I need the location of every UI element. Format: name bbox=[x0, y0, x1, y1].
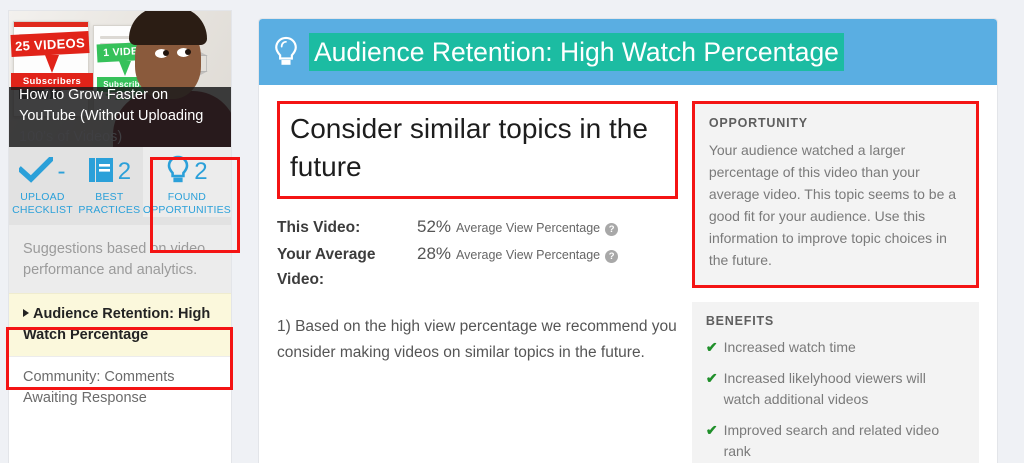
book-icon bbox=[88, 156, 114, 189]
metric-label-your-average-video: Your Average Video: bbox=[277, 242, 417, 292]
sidebar-item-community-comments-label: Community: Comments Awaiting Response bbox=[23, 369, 174, 406]
benefits-panel: BENEFITS ✔ Increased watch time ✔ Increa… bbox=[692, 302, 979, 463]
metric-value-your-average-video: 28% bbox=[417, 244, 451, 264]
video-sidebar: 25 VIDEOS 1 VIDEO Subscribers Subscriber… bbox=[8, 10, 232, 463]
metric-row: Your Average Video: 28% Average View Per… bbox=[277, 242, 678, 292]
benefit-item: ✔ Increased watch time bbox=[706, 337, 965, 358]
headline-container: Consider similar topics in the future bbox=[277, 101, 678, 199]
suggestion-header: Audience Retention: High Watch Percentag… bbox=[259, 19, 997, 85]
video-stats-row: - UPLOAD CHECKLIST bbox=[9, 147, 231, 225]
suggestion-body: Consider similar topics in the future Th… bbox=[259, 85, 997, 463]
metrics-table: This Video: 52% Average View Percentage … bbox=[277, 215, 678, 292]
stat-upload-checklist-label-1: UPLOAD bbox=[12, 191, 73, 204]
stat-found-opportunities-label-2: OPPORTUNITIES bbox=[143, 204, 231, 217]
app-root: 25 VIDEOS 1 VIDEO Subscribers Subscriber… bbox=[0, 0, 1024, 463]
sidebar-item-audience-retention[interactable]: Audience Retention: High Watch Percentag… bbox=[9, 293, 231, 356]
caret-right-icon bbox=[23, 309, 29, 317]
stat-upload-checklist-value: - bbox=[57, 160, 65, 184]
help-icon[interactable]: ? bbox=[605, 223, 618, 236]
stat-upload-checklist-label-2: CHECKLIST bbox=[12, 204, 73, 217]
stat-found-opportunities[interactable]: 2 FOUND OPPORTUNITIES bbox=[143, 147, 231, 217]
opportunity-panel-text: Your audience watched a larger percentag… bbox=[709, 139, 962, 271]
video-title-line-3: 100's of Videos) bbox=[19, 127, 223, 147]
video-title-line-1: How to Grow Faster on bbox=[19, 85, 223, 106]
metric-description-this-video: Average View Percentage bbox=[456, 221, 600, 235]
sidebar-item-audience-retention-label: Audience Retention: High Watch Percentag… bbox=[23, 306, 210, 343]
stat-best-practices-label-2: PRACTICES bbox=[78, 204, 140, 217]
check-icon bbox=[19, 157, 53, 188]
stat-found-opportunities-label-1: FOUND bbox=[143, 191, 231, 204]
help-icon[interactable]: ? bbox=[605, 250, 618, 263]
opportunity-panel-title: OPPORTUNITY bbox=[709, 116, 962, 130]
stat-upload-checklist[interactable]: - UPLOAD CHECKLIST bbox=[9, 147, 76, 217]
suggestion-detail-card: Audience Retention: High Watch Percentag… bbox=[258, 18, 998, 463]
sidebar-item-community-comments[interactable]: Community: Comments Awaiting Response bbox=[9, 356, 231, 419]
suggestion-main-column: Consider similar topics in the future Th… bbox=[277, 101, 688, 463]
benefit-item: ✔ Improved search and related video rank bbox=[706, 420, 965, 462]
benefit-item-label: Improved search and related video rank bbox=[724, 420, 965, 462]
thumbnail-badge-25-videos: 25 VIDEOS bbox=[10, 31, 89, 57]
benefit-item-label: Increased likelyhood viewers will watch … bbox=[724, 368, 965, 410]
suggestions-note: Suggestions based on video performance a… bbox=[9, 225, 231, 293]
stat-best-practices-value: 2 bbox=[118, 160, 131, 184]
metric-description-your-average-video: Average View Percentage bbox=[456, 248, 600, 262]
video-thumbnail[interactable]: 25 VIDEOS 1 VIDEO Subscribers Subscriber… bbox=[9, 11, 231, 147]
benefits-panel-title: BENEFITS bbox=[706, 314, 965, 328]
opportunity-panel: OPPORTUNITY Your audience watched a larg… bbox=[692, 101, 979, 288]
recommendation-text: 1) Based on the high view percentage we … bbox=[277, 314, 678, 366]
benefit-item-label: Increased watch time bbox=[724, 337, 856, 358]
video-title: How to Grow Faster on YouTube (Without U… bbox=[19, 85, 223, 147]
metric-row: This Video: 52% Average View Percentage … bbox=[277, 215, 678, 240]
check-icon: ✔ bbox=[706, 337, 718, 358]
check-icon: ✔ bbox=[706, 368, 718, 410]
lightbulb-icon bbox=[166, 155, 190, 190]
suggestion-headline: Consider similar topics in the future bbox=[290, 110, 667, 186]
metric-label-this-video: This Video: bbox=[277, 215, 417, 240]
stat-best-practices-label-1: BEST bbox=[78, 191, 140, 204]
stat-best-practices[interactable]: 2 BEST PRACTICES bbox=[76, 147, 143, 217]
suggestion-side-column: OPPORTUNITY Your audience watched a larg… bbox=[688, 101, 979, 463]
stat-found-opportunities-value: 2 bbox=[194, 160, 207, 184]
lightbulb-icon bbox=[273, 35, 299, 69]
check-icon: ✔ bbox=[706, 420, 718, 462]
video-title-line-2: YouTube (Without Uploading bbox=[19, 106, 223, 127]
benefit-item: ✔ Increased likelyhood viewers will watc… bbox=[706, 368, 965, 410]
metric-value-this-video: 52% bbox=[417, 217, 451, 237]
suggestion-header-title: Audience Retention: High Watch Percentag… bbox=[309, 33, 844, 71]
